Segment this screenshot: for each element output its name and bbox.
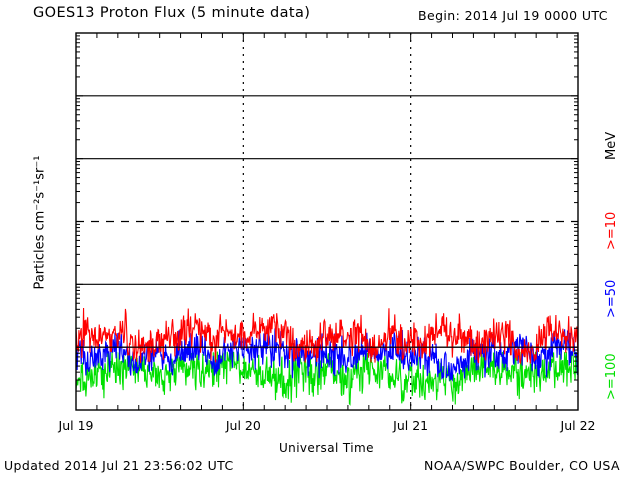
right-label-series-ge50: >=50 (604, 280, 619, 318)
right-label-series-ge100: >=100 (604, 353, 619, 400)
plot-area (0, 0, 640, 480)
right-label-units: MeV (604, 132, 619, 160)
right-label-series-ge10: >=10 (604, 212, 619, 250)
chart-root: GOES13 Proton Flux (5 minute data) Begin… (0, 0, 640, 480)
x-axis-label: Universal Time (279, 441, 374, 455)
updated-timestamp: Updated 2014 Jul 21 23:56:02 UTC (4, 458, 234, 473)
credit-label: NOAA/SWPC Boulder, CO USA (424, 458, 620, 473)
